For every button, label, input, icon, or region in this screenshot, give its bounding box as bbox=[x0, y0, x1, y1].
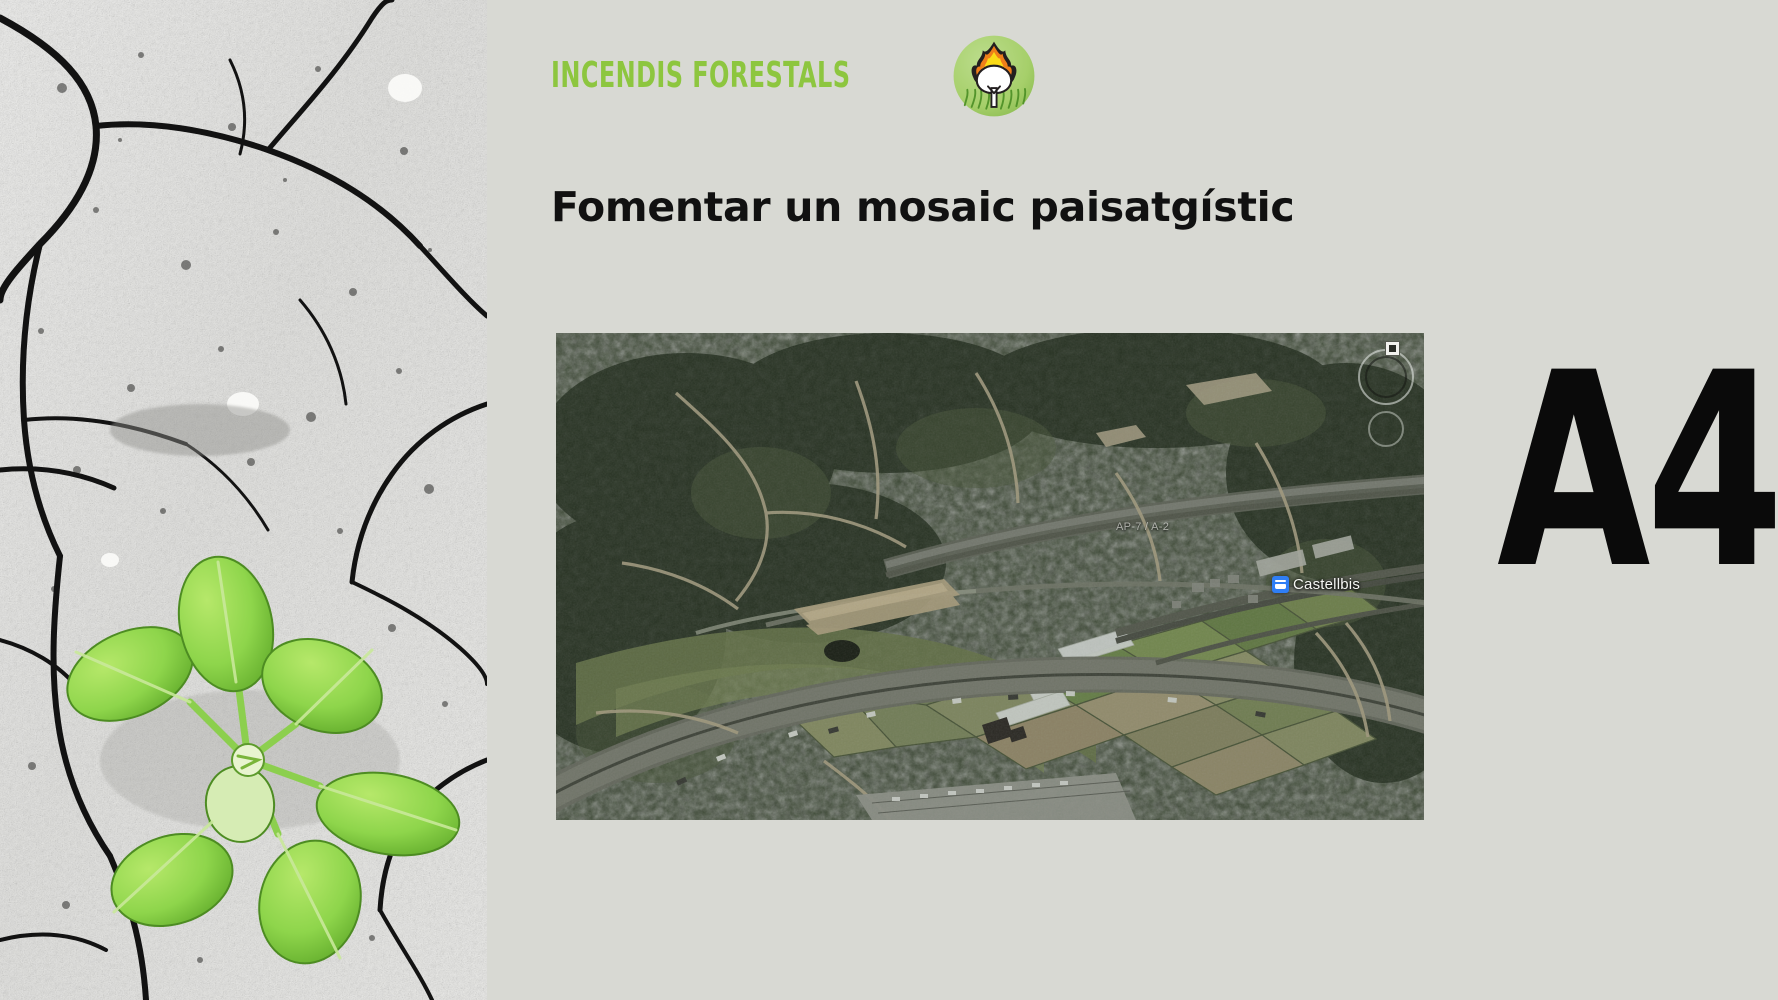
map-road-label: AP-7 / A-2 bbox=[1116, 521, 1169, 533]
left-photo-seedling-in-cracked-soil bbox=[0, 0, 487, 1000]
page-title: Fomentar un mosaic paisatgístic bbox=[551, 185, 1294, 230]
slide-header: INCENDIS FORESTALS bbox=[551, 28, 1037, 124]
slide-canvas: INCENDIS FORESTALS bbox=[0, 0, 1778, 1000]
train-station-marker-icon bbox=[1272, 576, 1289, 593]
train-station-marker[interactable]: Castellbis bbox=[1272, 576, 1360, 593]
satellite-map-figure[interactable]: AP-7 / A-2 Castellbis bbox=[556, 333, 1424, 820]
fullscreen-icon[interactable] bbox=[1385, 341, 1400, 356]
map-marker-label: Castellbis bbox=[1293, 576, 1360, 593]
compass-ring-icon[interactable] bbox=[1358, 349, 1414, 405]
zoom-ring-icon[interactable] bbox=[1368, 411, 1404, 447]
burning-tree-logo-icon bbox=[951, 33, 1037, 119]
brand-title: INCENDIS FORESTALS bbox=[551, 58, 850, 94]
status-badge: A4 bbox=[1497, 363, 1778, 583]
